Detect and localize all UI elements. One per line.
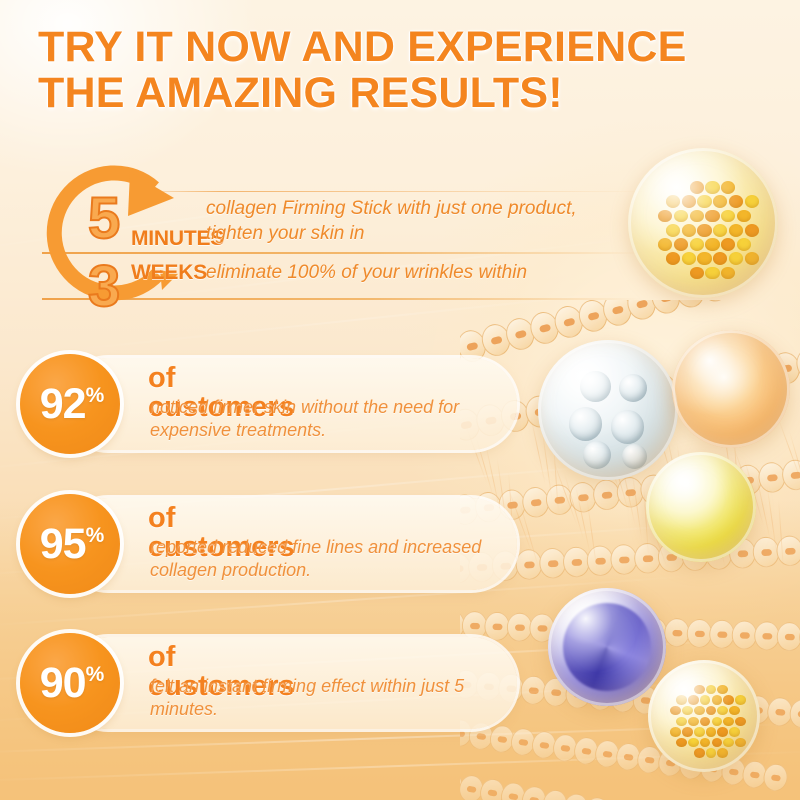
- stat-description-2: felt an instant firming effect within ju…: [150, 675, 520, 721]
- stat-description-0: noticed firmer skin without the need for…: [150, 396, 520, 442]
- glowing-amber-sphere: [672, 330, 790, 448]
- timing-unit-1: WEEKS: [131, 262, 207, 283]
- headline-line-1: TRY IT NOW AND EXPERIENCE: [38, 24, 758, 70]
- stat-percent-value-1: 95: [40, 523, 86, 566]
- stat-percent-badge-1: 95 %: [20, 494, 120, 594]
- stat-percent-value-2: 90: [40, 662, 86, 705]
- timing-block: 5 MINUTES collagen Firming Stick with ju…: [26, 148, 646, 323]
- percent-symbol-icon-2: %: [86, 664, 105, 685]
- timing-text-0: collagen Firming Stick with just one pro…: [206, 196, 626, 246]
- stat-description-1: reported reduced fine lines and increase…: [150, 536, 520, 582]
- honeycomb-sphere-top: [628, 148, 778, 298]
- timing-divider-top: [126, 191, 646, 192]
- percent-symbol-icon-1: %: [86, 525, 105, 546]
- page-title: TRY IT NOW AND EXPERIENCE THE AMAZING RE…: [38, 24, 758, 116]
- stat-percent-badge-2: 90 %: [20, 633, 120, 733]
- headline-line-2: THE AMAZING RESULTS!: [38, 70, 758, 116]
- yellow-serum-sphere: [646, 452, 756, 562]
- honeycomb-sphere-bottom: [648, 660, 760, 772]
- bubble-cluster-sphere: [538, 340, 678, 480]
- stat-percent-value-0: 92: [40, 383, 86, 426]
- timing-number-1: 3: [88, 258, 120, 316]
- timing-number-0: 5: [88, 190, 120, 248]
- blue-swirl-sphere: [548, 588, 666, 706]
- stat-percent-badge-0: 92 %: [20, 354, 120, 454]
- percent-symbol-icon-0: %: [86, 385, 105, 406]
- timing-text-1: eliminate 100% of your wrinkles within: [206, 260, 636, 285]
- infographic-canvas: TRY IT NOW AND EXPERIENCE THE AMAZING RE…: [0, 0, 800, 800]
